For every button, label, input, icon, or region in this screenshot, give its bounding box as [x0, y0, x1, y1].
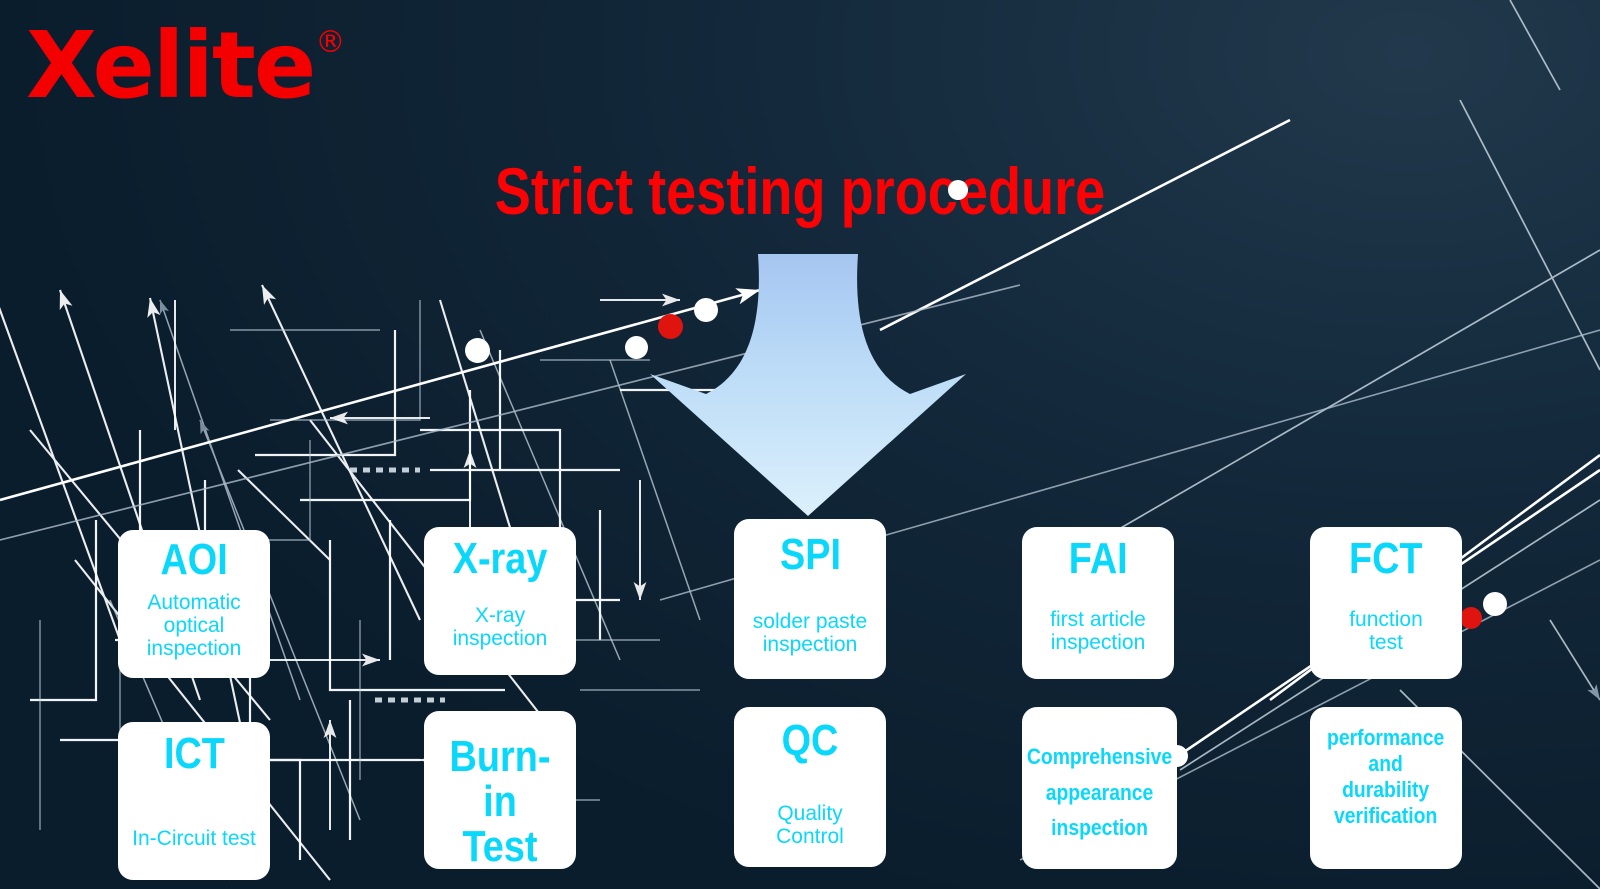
brand-name: Xelite [26, 22, 314, 109]
registered-trademark-icon: ® [315, 28, 345, 58]
card-subtitle: Comprehensive appearance inspection [1027, 739, 1172, 846]
card-title: SPI [779, 533, 840, 578]
card-title: QC [782, 719, 839, 764]
brand-logo: Xelite ® [26, 22, 345, 109]
card-title: FCT [1349, 537, 1423, 582]
card-subtitle: In-Circuit test [132, 827, 256, 850]
test-card-performance-durability[interactable]: performance and durability verification [1310, 707, 1462, 869]
page-title: Strict testing procedure [144, 158, 1456, 224]
node-dot-red [1460, 607, 1482, 629]
test-card-comprehensive-appearance[interactable]: Comprehensive appearance inspection [1022, 707, 1177, 869]
slide-canvas: Xelite ® Strict testing procedure AOI Au… [0, 0, 1600, 889]
node-dot-white [694, 298, 718, 322]
card-title: Burn-in Test [435, 735, 566, 869]
test-card-ict[interactable]: ICT In-Circuit test [118, 722, 270, 880]
card-subtitle: Quality Control [776, 802, 844, 848]
test-card-aoi[interactable]: AOI Automatic optical inspection [118, 530, 270, 678]
card-title: ICT [164, 732, 225, 777]
card-title: FAI [1069, 537, 1128, 582]
down-arrow-icon [648, 252, 968, 518]
node-dot-white [465, 338, 490, 363]
card-subtitle: X-ray inspection [453, 604, 548, 650]
test-card-spi[interactable]: SPI solder paste inspection [734, 519, 886, 679]
test-card-xray[interactable]: X-ray X-ray inspection [424, 527, 576, 675]
node-dot-white [1483, 592, 1507, 616]
card-title: X-ray [453, 537, 548, 582]
card-subtitle: performance and durability verification [1327, 725, 1444, 829]
card-subtitle: solder paste inspection [753, 610, 867, 656]
card-subtitle: Automatic optical inspection [147, 591, 242, 660]
node-dot-white [625, 336, 648, 359]
card-subtitle: first article inspection [1050, 608, 1146, 654]
node-dot-white [948, 180, 968, 200]
test-card-fct[interactable]: FCT function test [1310, 527, 1462, 679]
card-title: AOI [160, 538, 227, 583]
card-subtitle: function test [1349, 608, 1423, 654]
test-card-qc[interactable]: QC Quality Control [734, 707, 886, 867]
test-card-fai[interactable]: FAI first article inspection [1022, 527, 1174, 679]
test-card-burn-in[interactable]: Burn-in Test [424, 711, 576, 869]
node-dot-red [658, 314, 683, 339]
